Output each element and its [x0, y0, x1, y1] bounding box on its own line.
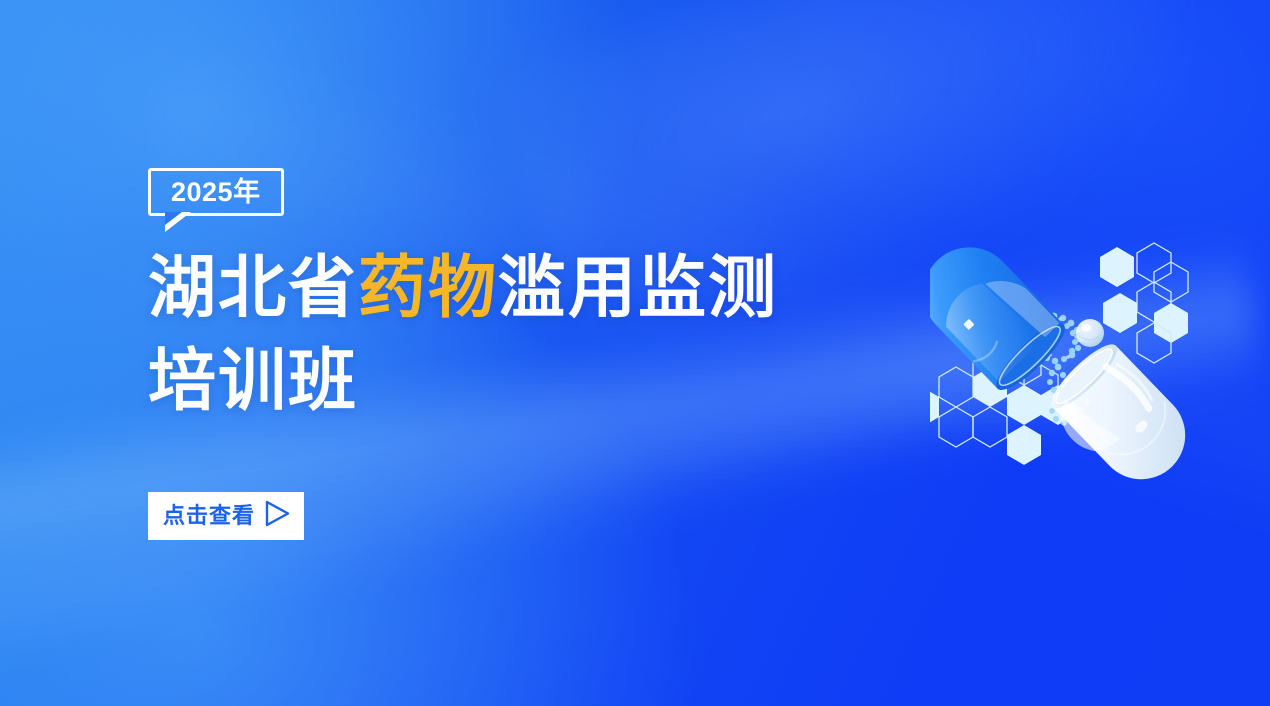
- promo-banner: 2025年 湖北省药物滥用监测 培训班 点击查看: [0, 0, 1270, 706]
- play-triangle-icon: [264, 500, 291, 532]
- year-badge: 2025年: [148, 168, 284, 216]
- headline-line-1: 湖北省药物滥用监测: [148, 242, 908, 335]
- view-details-button[interactable]: 点击查看: [148, 492, 304, 540]
- view-details-label: 点击查看: [163, 505, 255, 527]
- headline-text-suffix: 滥用监测: [498, 250, 778, 326]
- capsule-artwork: [930, 225, 1230, 485]
- headline-line-2: 培训班: [148, 335, 908, 428]
- headline-text-highlight: 药物: [358, 250, 498, 326]
- banner-content: 2025年 湖北省药物滥用监测 培训班 点击查看: [148, 168, 908, 540]
- year-badge-label: 2025年: [171, 179, 261, 206]
- page-title: 湖北省药物滥用监测 培训班: [148, 242, 908, 428]
- headline-text-prefix: 湖北省: [148, 250, 358, 326]
- glass-sphere: [1076, 319, 1104, 347]
